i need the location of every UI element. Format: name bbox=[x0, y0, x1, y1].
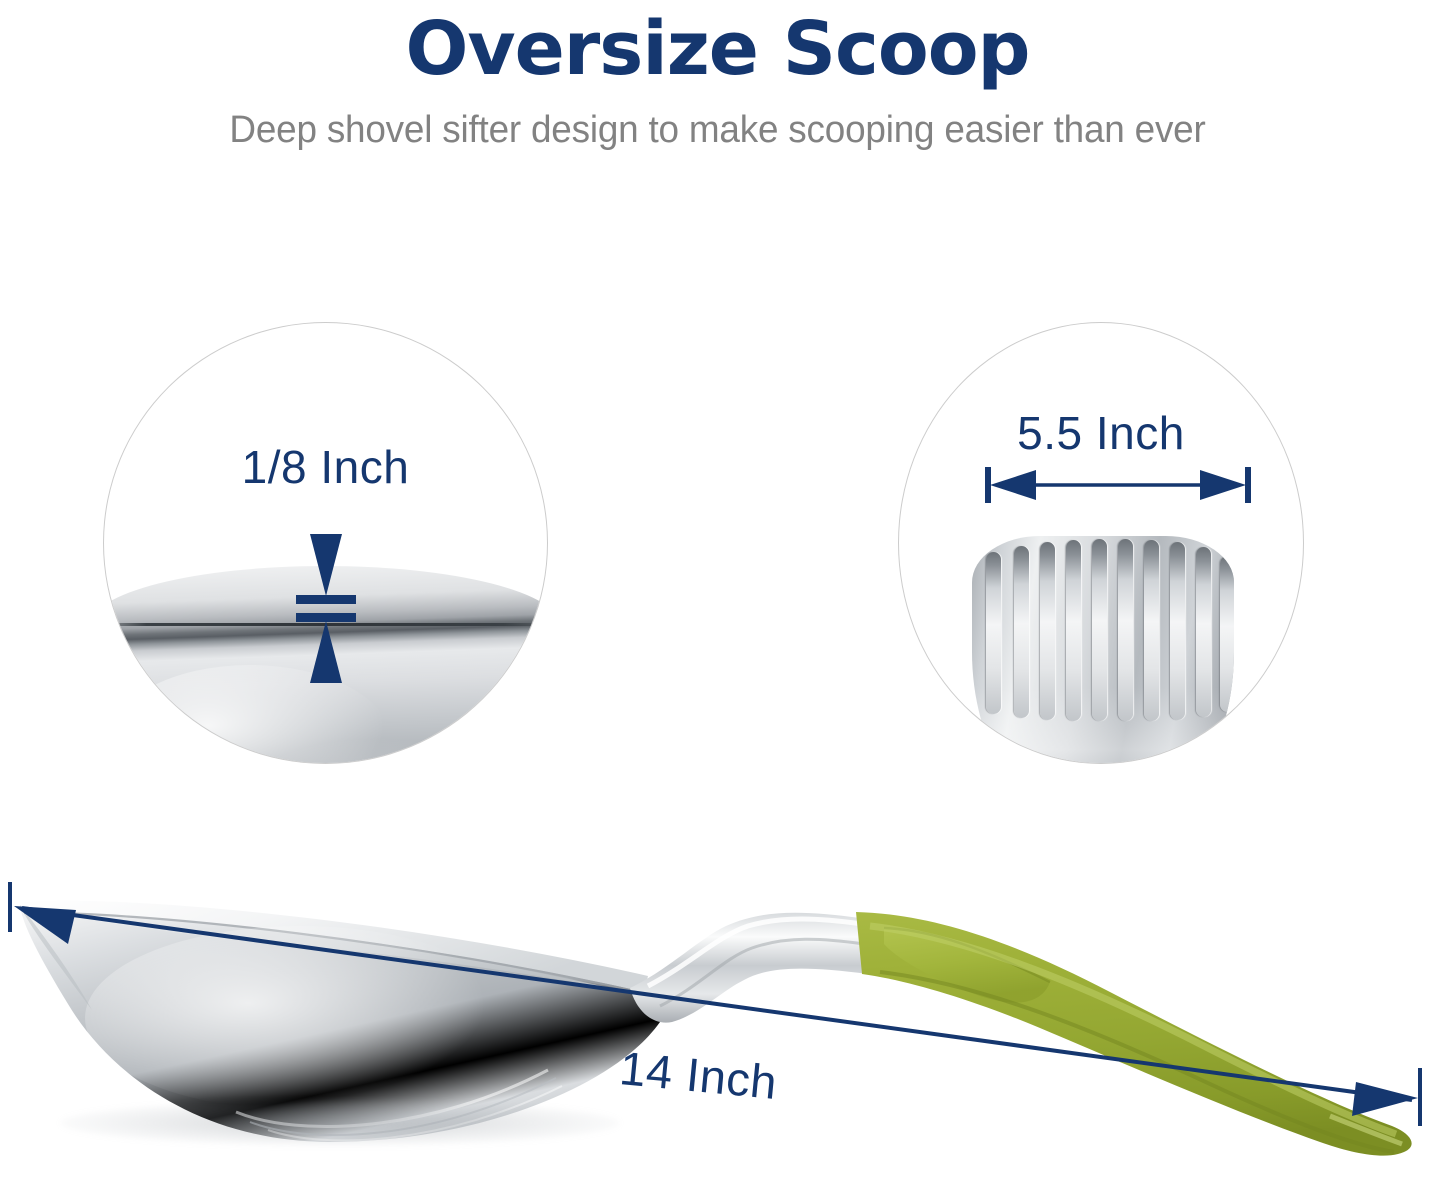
scoop-neck-body bbox=[630, 913, 868, 1023]
page-subtitle: Deep shovel sifter design to make scoopi… bbox=[22, 87, 1414, 152]
thickness-arrow-down-icon bbox=[310, 534, 342, 596]
detail-circle-thickness: 1/8 Inch bbox=[103, 322, 548, 764]
scoop-slot bbox=[1144, 540, 1159, 721]
scoop-slot bbox=[1220, 556, 1234, 712]
width-dimension-arrow-icon bbox=[984, 463, 1252, 507]
scoop-slot bbox=[986, 552, 1001, 714]
scoop-neck bbox=[630, 913, 868, 1023]
product-drop-shadow bbox=[60, 1100, 620, 1146]
scoop-slot bbox=[1196, 547, 1211, 717]
thickness-arrow-up-icon bbox=[310, 621, 342, 683]
thickness-dimension-label: 1/8 Inch bbox=[104, 440, 547, 494]
header: Oversize Scoop Deep shovel sifter design… bbox=[0, 0, 1435, 152]
scoop-slot bbox=[1014, 546, 1029, 718]
detail-circle-width: 5.5 Inch bbox=[898, 322, 1304, 764]
page-title: Oversize Scoop bbox=[0, 0, 1435, 87]
scoop-slot bbox=[1092, 539, 1107, 721]
scoop-slot bbox=[1118, 539, 1133, 721]
scoop-slot bbox=[1170, 542, 1185, 720]
width-dimension-label: 5.5 Inch bbox=[899, 406, 1303, 460]
scoop-slot bbox=[1040, 542, 1055, 720]
scoop-bowl-sheen bbox=[85, 926, 515, 1110]
scoop-slot bbox=[1066, 540, 1081, 721]
thickness-marker-bar-top bbox=[296, 595, 356, 604]
slotted-scoop-front-image bbox=[972, 536, 1234, 764]
product-illustration bbox=[0, 760, 1435, 1190]
